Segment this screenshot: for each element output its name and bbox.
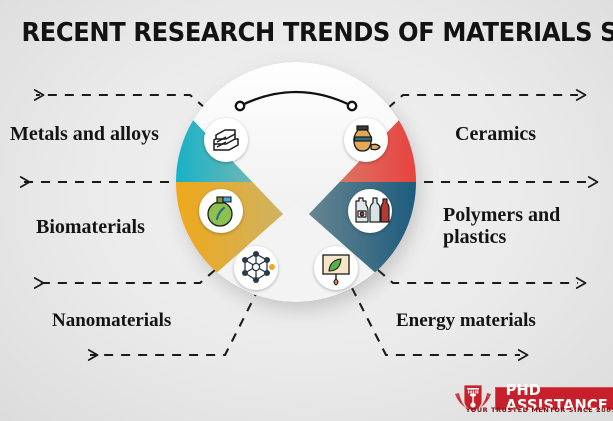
icon-badge-ceramics[interactable] [344, 118, 388, 162]
label-ceramics: Ceramics [455, 123, 536, 145]
plastic-bottles-icon [348, 189, 392, 233]
icon-badge-metals[interactable] [204, 118, 248, 162]
icon-badge-energy[interactable] [314, 246, 358, 290]
logo-tagline: YOUR TRUSTED MENTOR SINCE 2001 [466, 406, 613, 414]
label-nanomaterials: Nanomaterials [52, 310, 171, 331]
icon-badge-polymers[interactable] [348, 189, 392, 233]
molecule-icon [234, 246, 278, 290]
label-energy-materials: Energy materials [396, 310, 536, 331]
green-energy-icon [314, 246, 358, 290]
connector-ceramics [388, 95, 578, 108]
phd-assistance-logo[interactable]: PHD ASSISTANCE YOUR TRUSTED MENTOR SINCE… [452, 381, 613, 415]
infographic-canvas: RECENT RESEARCH TRENDS OF MATERIALS SCIE… [0, 0, 613, 421]
segmented-wheel [176, 62, 416, 302]
ceramic-pot-icon [344, 118, 388, 162]
icon-badge-nanomaterials[interactable] [234, 246, 278, 290]
icon-badge-biomaterials[interactable] [199, 189, 243, 233]
bio-flask-icon [199, 189, 243, 233]
label-polymers-and-plastics: Polymers and plastics [443, 204, 593, 249]
label-biomaterials: Biomaterials [36, 216, 145, 238]
label-metals-and-alloys: Metals and alloys [10, 123, 159, 145]
page-title: RECENT RESEARCH TRENDS OF MATERIALS SCIE… [21, 18, 591, 48]
metal-ingots-icon [204, 118, 248, 162]
